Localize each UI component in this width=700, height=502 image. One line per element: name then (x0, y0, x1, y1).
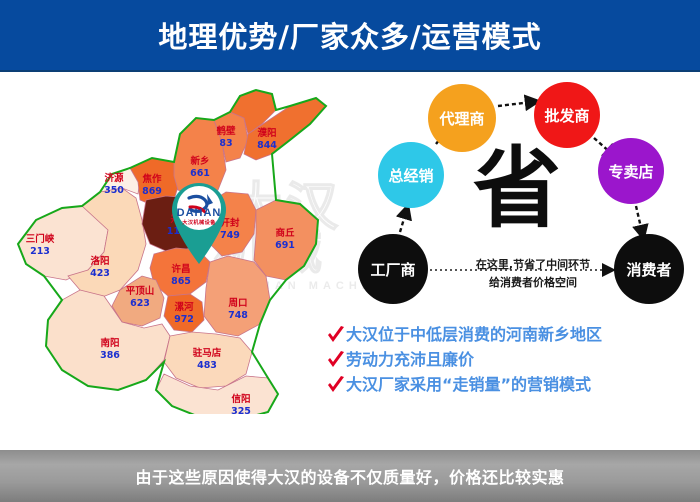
advantage-text: 大汉位于中低层消费的河南新乡地区 (346, 324, 602, 346)
list-item: 大汉位于中低层消费的河南新乡地区 (326, 324, 698, 346)
footer-bar: 由于这些原因使得大汉的设备不仅质量好，价格还比较实惠 (0, 450, 700, 502)
map-label-nanyang-name: 南阳 (100, 337, 119, 349)
map-label-sanmenxia-name: 三门峡 (26, 233, 55, 245)
arrow-store-to-consumer (636, 206, 642, 232)
flow-node-factory[interactable]: 工厂商 (358, 234, 428, 304)
map-label-luoyang-name: 洛阳 (90, 255, 109, 267)
flow-note-line1: 在这里,节省了中间环节 (438, 256, 628, 274)
advantage-text: 大汉厂家采用“走销量”的营销模式 (346, 374, 591, 396)
map-label-zhoukou-name: 周口 (228, 298, 247, 309)
checkmark-icon (326, 375, 346, 397)
map-label-puyang-name: 濮阳 (256, 127, 276, 139)
map-label-xinxiang-name: 新乡 (190, 155, 209, 167)
map-label-zhoukou-value: 748 (228, 310, 248, 321)
arrow-agent-to-wholesale (498, 102, 532, 106)
map-label-puyang-value: 844 (257, 140, 277, 151)
distribution-flow-diagram: 总经销 代理商 批发商 专卖店 工厂商 消费者 省 在这里,节省了中间环节 给消… (340, 76, 700, 326)
pin-logo-text: DAHAN (162, 207, 236, 219)
map-label-pingdingshan-name: 平顶山 (126, 285, 155, 297)
save-character: 省 (462, 134, 572, 244)
map-label-sanmenxia-value: 213 (30, 246, 50, 257)
map-label-jiaozuo-value: 869 (142, 186, 162, 197)
map-label-zhumadian-value: 483 (197, 360, 217, 371)
map-label-hebi-name: 鹤壁 (216, 125, 236, 137)
pin-logo-subtext: 大汉机械设备 (162, 219, 236, 226)
map-label-shangqiu-value: 691 (275, 240, 295, 251)
map-label-xinyang-value: 325 (231, 406, 251, 414)
map-label-xinyang-name: 信阳 (231, 393, 250, 405)
header-bar: 地理优势/厂家众多/运营模式 (0, 0, 700, 70)
checkmark-icon (326, 325, 346, 347)
map-label-luoyang-value: 423 (90, 268, 110, 279)
list-item: 劳动力充沛且廉价 (326, 349, 698, 371)
list-item: 大汉厂家采用“走销量”的营销模式 (326, 374, 698, 396)
map-label-zhumadian-name: 驻马店 (193, 347, 222, 359)
map-label-jiyuan-name: 济源 (104, 172, 124, 184)
arrow-factory-to-general (400, 212, 406, 232)
flow-note-line2: 给消费者价格空间 (438, 274, 628, 292)
footer-text: 由于这些原因使得大汉的设备不仅质量好，价格还比较实惠 (135, 464, 564, 488)
flow-note: 在这里,节省了中间环节 给消费者价格空间 (438, 256, 628, 292)
map-label-shangqiu-name: 商丘 (275, 227, 295, 239)
content-stage: 大汉 机械 DAHAN MACHINERY (0, 72, 700, 450)
flow-node-general-distributor[interactable]: 总经销 (378, 142, 444, 208)
map-label-jiyuan-value: 350 (104, 185, 124, 196)
map-label-jiaozuo-name: 焦作 (141, 173, 162, 185)
flow-node-specialty-store[interactable]: 专卖店 (598, 138, 664, 204)
map-label-nanyang-value: 386 (100, 350, 120, 361)
page-title: 地理优势/厂家众多/运营模式 (158, 14, 541, 56)
advantages-list: 大汉位于中低层消费的河南新乡地区 劳动力充沛且廉价 大汉厂家采用“走销量”的营销… (326, 324, 698, 399)
promo-banner: 地理优势/厂家众多/运营模式 大汉 机械 DAHAN MACHINERY (0, 0, 700, 502)
location-pin[interactable]: DAHAN 大汉机械设备 (162, 177, 236, 265)
checkmark-icon (326, 350, 346, 372)
map-region-luohe[interactable] (164, 294, 204, 332)
map-label-luohe-value: 972 (174, 314, 194, 325)
advantage-text: 劳动力充沛且廉价 (346, 349, 474, 371)
map-label-luohe-name: 漯河 (174, 301, 194, 313)
map-label-pingdingshan-value: 623 (130, 298, 150, 309)
map-label-hebi-value: 83 (219, 138, 232, 149)
map-label-xuchang-value: 865 (171, 276, 191, 287)
